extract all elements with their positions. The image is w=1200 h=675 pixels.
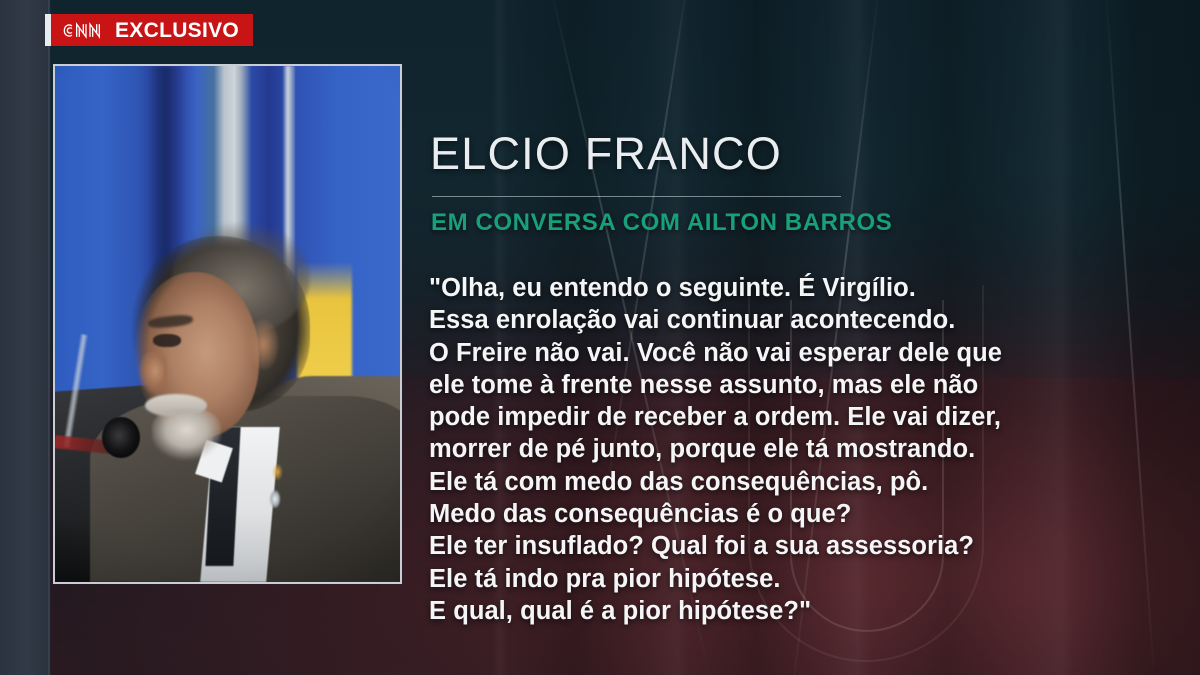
broadcast-graphic: EXCLUSIVO <box>0 0 1200 675</box>
subject-photo <box>53 64 402 584</box>
banner-label: EXCLUSIVO <box>115 20 239 41</box>
quote-text: "Olha, eu entendo o seguinte. É Virgílio… <box>429 272 1169 627</box>
speaker-subtitle: EM CONVERSA COM AILTON BARROS <box>431 211 892 235</box>
title-divider <box>432 196 841 197</box>
quote-line: Essa enrolação vai continuar acontecendo… <box>429 304 1169 336</box>
quote-line: Ele tá indo pra pior hipótese. <box>429 563 1169 595</box>
background-left-panel-edge <box>48 0 51 675</box>
subject-photo-image <box>55 66 400 582</box>
cnn-exclusive-banner: EXCLUSIVO <box>45 14 253 46</box>
quote-line: ele tome à frente nesse assunto, mas ele… <box>429 369 1169 401</box>
quote-line: Medo das consequências é o que? <box>429 498 1169 530</box>
banner-body: EXCLUSIVO <box>51 14 253 46</box>
cnn-logo <box>62 22 106 39</box>
quote-line: pode impedir de receber a ordem. Ele vai… <box>429 401 1169 433</box>
photo-vignette <box>55 66 400 582</box>
quote-line: E qual, qual é a pior hipótese?" <box>429 595 1169 627</box>
quote-line: "Olha, eu entendo o seguinte. É Virgílio… <box>429 272 1169 304</box>
background-left-panel <box>0 0 50 675</box>
quote-line: O Freire não vai. Você não vai esperar d… <box>429 337 1169 369</box>
quote-line: Ele ter insuflado? Qual foi a sua assess… <box>429 530 1169 562</box>
speaker-name: ELCIO FRANCO <box>430 131 782 176</box>
quote-line: Ele tá com medo das consequências, pô. <box>429 466 1169 498</box>
quote-line: morrer de pé junto, porque ele tá mostra… <box>429 433 1169 465</box>
